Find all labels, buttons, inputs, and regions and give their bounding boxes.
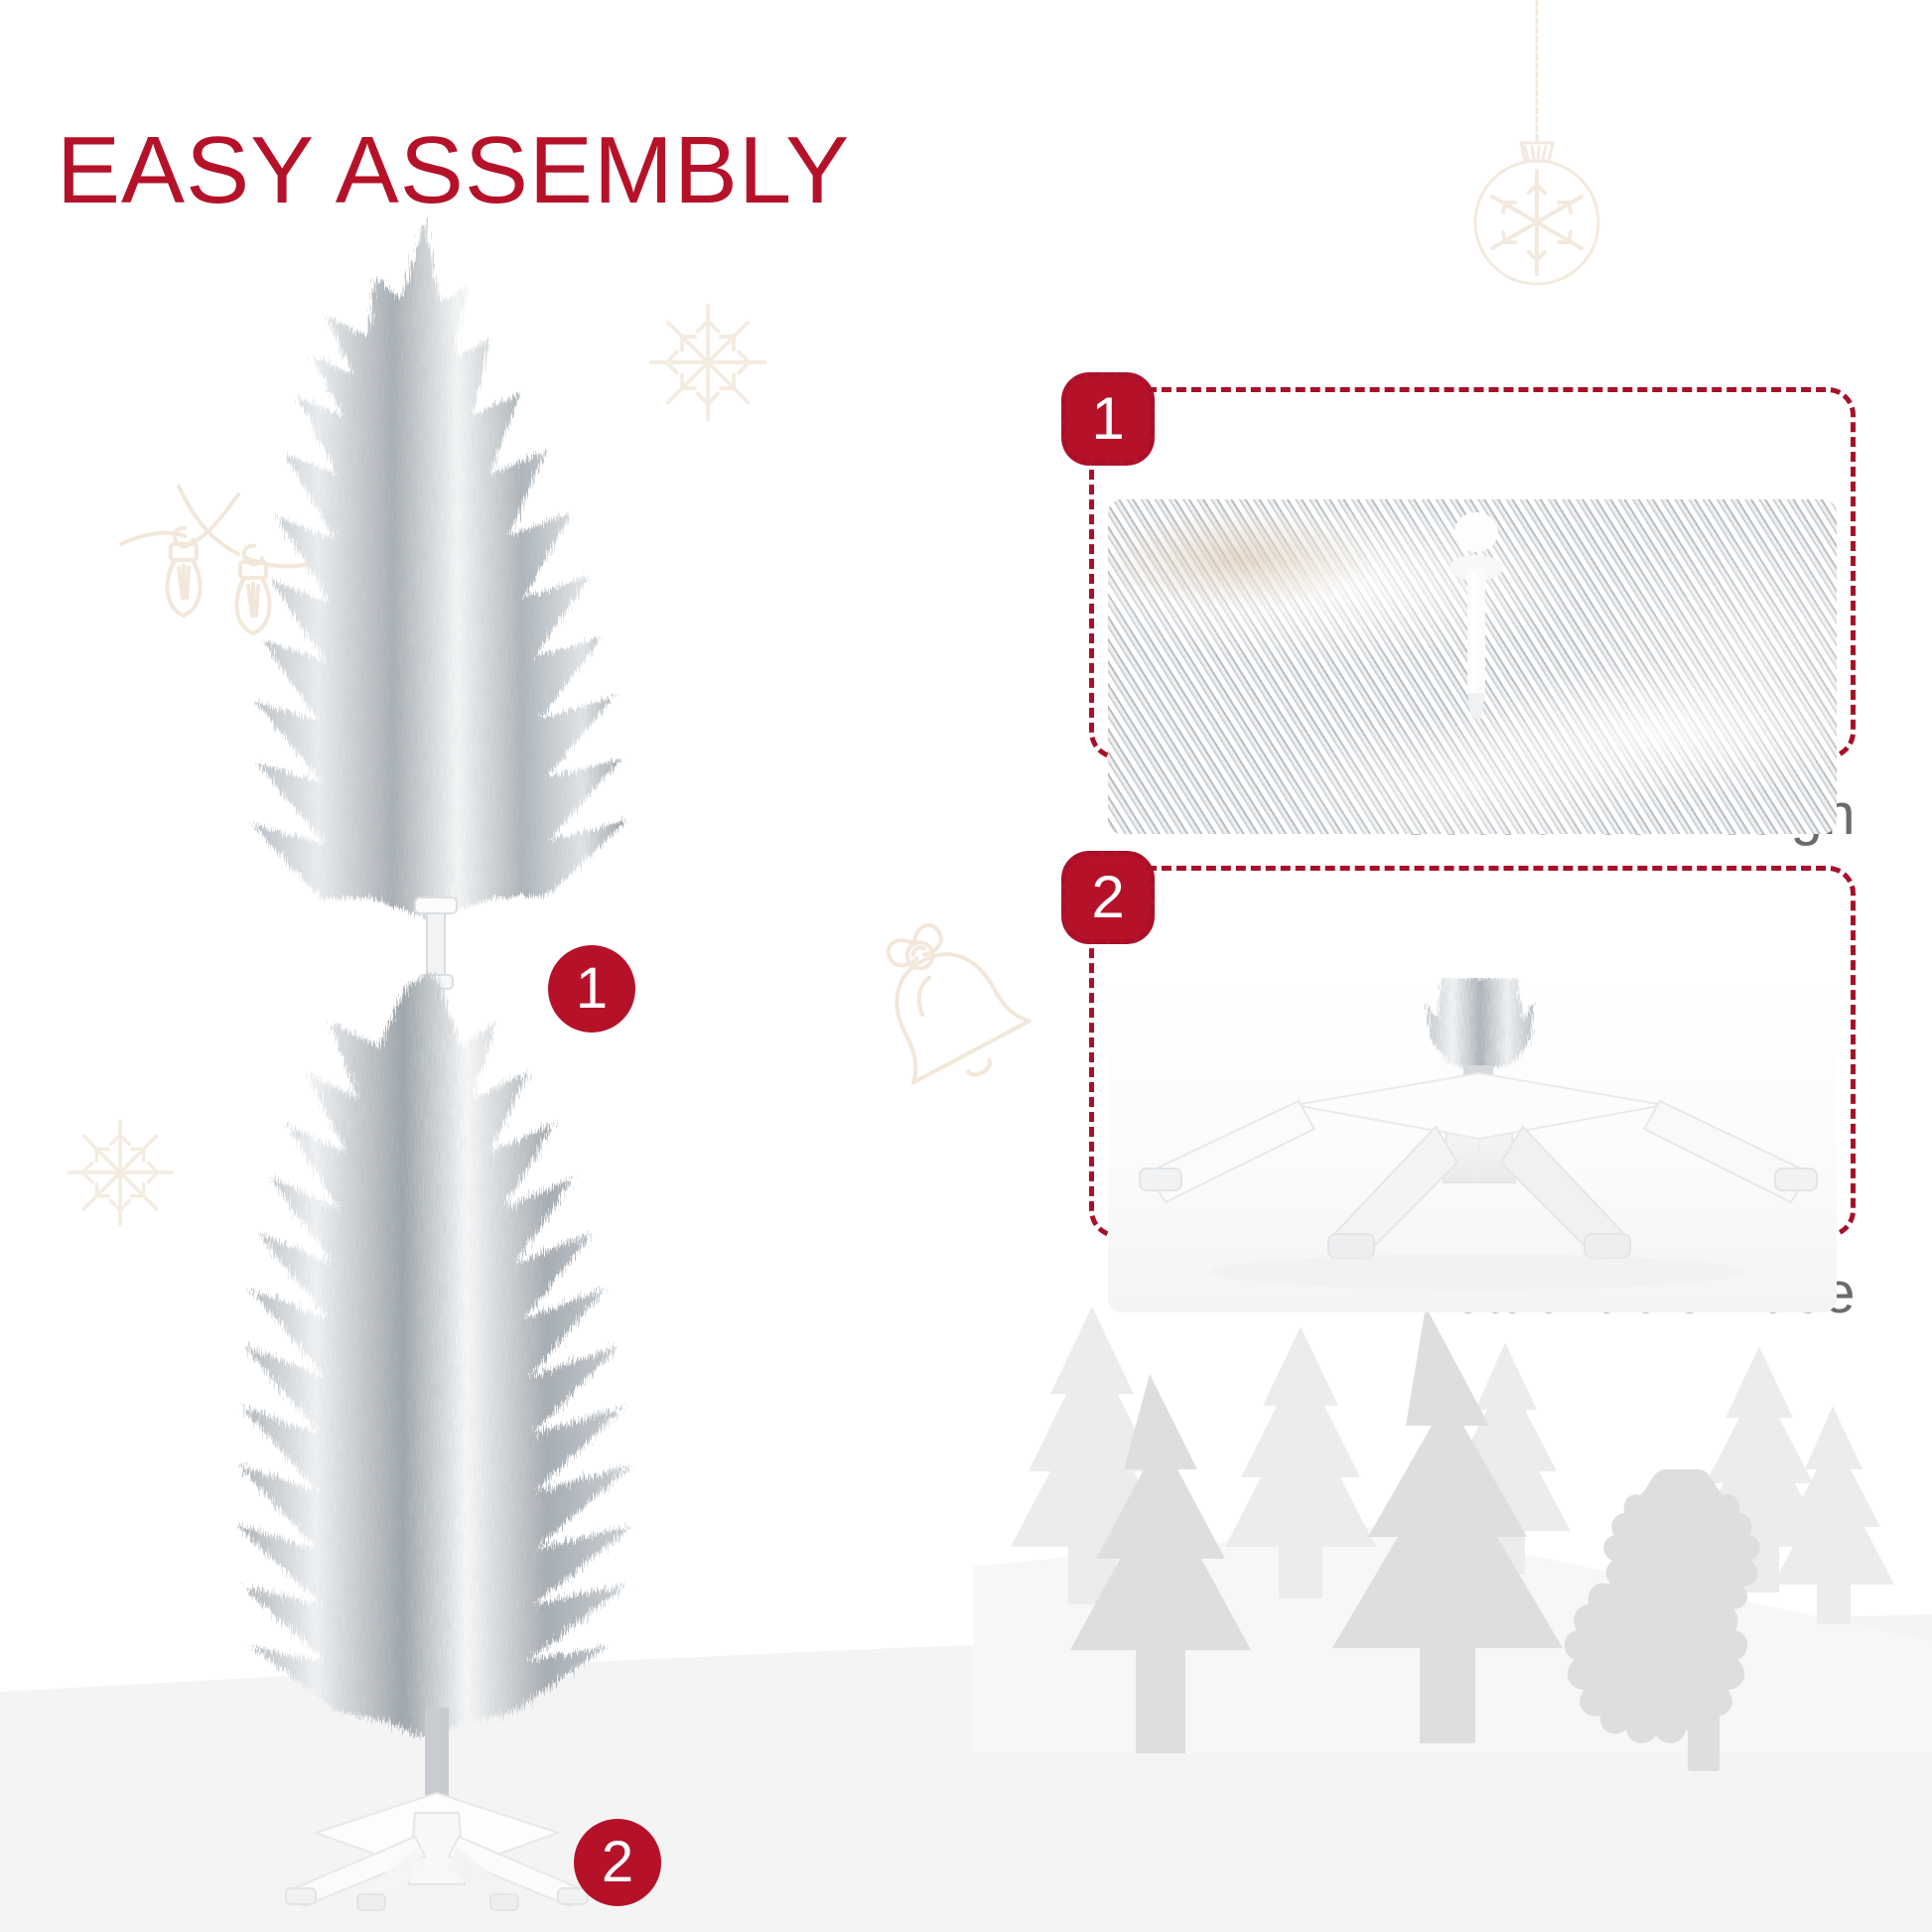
white-connector-pin	[1449, 506, 1504, 764]
callout-badge-1: 1	[548, 945, 635, 1033]
snowflake-icon	[62, 1114, 179, 1231]
panel-dashed-frame-2: 2	[1089, 866, 1856, 1238]
callout-badge-2: 2	[574, 1819, 661, 1906]
product-image-silver-tinsel-tree	[230, 208, 697, 1916]
pine-forest-silhouette	[1003, 1257, 1932, 1813]
feature-panel-detachable-base: 2	[1089, 866, 1856, 1326]
panel-photo-1	[1108, 499, 1837, 834]
bell-icon	[854, 923, 1052, 1112]
panel-badge-2: 2	[1061, 851, 1155, 944]
photo-base-stand	[1108, 978, 1837, 1312]
panel-dashed-frame-1: 1	[1089, 387, 1856, 759]
ornament-ball-snowflake-icon	[1438, 0, 1636, 290]
feature-panel-sectioned-design: 1 Sectioned Design	[1089, 387, 1856, 848]
page-title: EASY ASSEMBLY	[57, 121, 850, 221]
tree-base-stand	[286, 1793, 588, 1910]
infographic-canvas: EASY ASSEMBLY	[0, 0, 1932, 1932]
panel-photo-2	[1108, 978, 1837, 1312]
panel-badge-1: 1	[1061, 372, 1155, 466]
photo-tinsel-closeup	[1108, 499, 1837, 834]
